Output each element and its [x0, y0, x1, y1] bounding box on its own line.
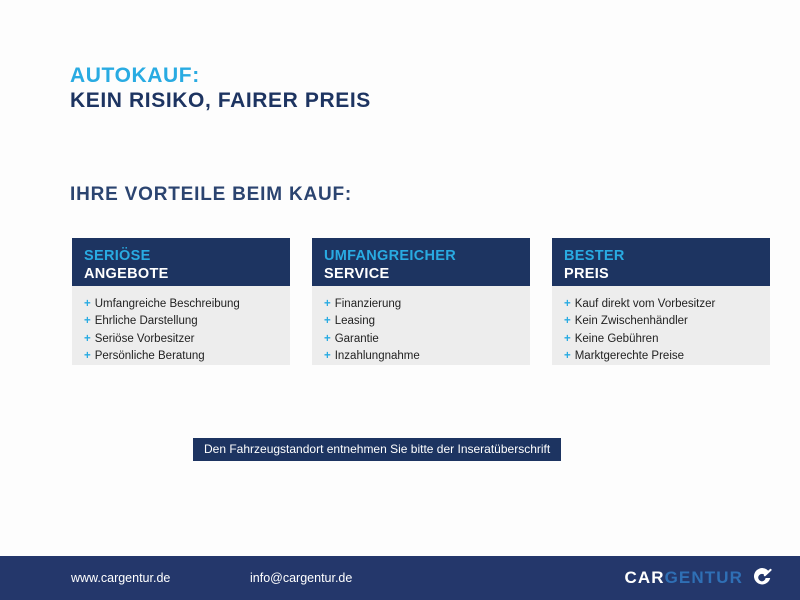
headline-line-2: KEIN RISIKO, FAIRER PREIS	[70, 89, 371, 114]
plus-icon: +	[324, 298, 331, 310]
card-header-top: BESTER	[564, 247, 758, 265]
list-item-label: Finanzierung	[335, 298, 401, 310]
list-item-label: Seriöse Vorbesitzer	[95, 333, 195, 345]
list-item-label: Keine Gebühren	[575, 333, 659, 345]
list-item-label: Ehrliche Darstellung	[95, 315, 198, 327]
plus-icon: +	[84, 350, 91, 362]
list-item: +Persönliche Beratung	[84, 348, 280, 365]
card-header-bottom: ANGEBOTE	[84, 265, 278, 283]
location-notice-banner: Den Fahrzeugstandort entnehmen Sie bitte…	[193, 438, 561, 461]
list-item: +Umfangreiche Beschreibung	[84, 296, 280, 313]
list-item: +Seriöse Vorbesitzer	[84, 331, 280, 348]
footer-website-link[interactable]: www.cargentur.de	[71, 571, 170, 585]
benefit-card-umfangreicher-service: UMFANGREICHER SERVICE +Finanzierung +Lea…	[312, 238, 530, 365]
list-item: +Garantie	[324, 331, 520, 348]
list-item-label: Umfangreiche Beschreibung	[95, 298, 240, 310]
card-header-bottom: SERVICE	[324, 265, 518, 283]
list-item: +Kein Zwischenhändler	[564, 313, 760, 330]
list-item: +Marktgerechte Preise	[564, 348, 760, 365]
plus-icon: +	[324, 350, 331, 362]
list-item-label: Leasing	[335, 315, 375, 327]
section-subtitle: IHRE VORTEILE BEIM KAUF:	[70, 184, 352, 206]
plus-icon: +	[564, 315, 571, 327]
headline-line-1: AUTOKAUF:	[70, 64, 371, 89]
list-item-label: Inzahlungnahme	[335, 350, 420, 362]
plus-icon: +	[324, 315, 331, 327]
card-header: SERIÖSE ANGEBOTE	[72, 238, 290, 286]
card-body: +Finanzierung +Leasing +Garantie +Inzahl…	[312, 286, 530, 365]
page-title: AUTOKAUF: KEIN RISIKO, FAIRER PREIS	[70, 64, 371, 114]
logo-text-car: CAR	[624, 568, 664, 588]
cargentur-c-mark-icon	[751, 567, 773, 589]
plus-icon: +	[84, 333, 91, 345]
plus-icon: +	[564, 333, 571, 345]
list-item-label: Garantie	[335, 333, 379, 345]
plus-icon: +	[564, 350, 571, 362]
plus-icon: +	[324, 333, 331, 345]
card-header-bottom: PREIS	[564, 265, 758, 283]
benefit-card-serioese-angebote: SERIÖSE ANGEBOTE +Umfangreiche Beschreib…	[72, 238, 290, 365]
list-item-label: Persönliche Beratung	[95, 350, 205, 362]
list-item: +Keine Gebühren	[564, 331, 760, 348]
card-body: +Umfangreiche Beschreibung +Ehrliche Dar…	[72, 286, 290, 365]
logo-text-gentur: GENTUR	[665, 568, 743, 588]
list-item: +Finanzierung	[324, 296, 520, 313]
plus-icon: +	[564, 298, 571, 310]
footer-bar: www.cargentur.de info@cargentur.de CARGE…	[0, 556, 800, 600]
card-header-top: SERIÖSE	[84, 247, 278, 265]
benefit-cards: SERIÖSE ANGEBOTE +Umfangreiche Beschreib…	[72, 238, 770, 365]
plus-icon: +	[84, 315, 91, 327]
list-item-label: Kein Zwischenhändler	[575, 315, 688, 327]
list-item: +Ehrliche Darstellung	[84, 313, 280, 330]
list-item: +Kauf direkt vom Vorbesitzer	[564, 296, 760, 313]
card-header: UMFANGREICHER SERVICE	[312, 238, 530, 286]
list-item-label: Marktgerechte Preise	[575, 350, 684, 362]
plus-icon: +	[84, 298, 91, 310]
card-header-top: UMFANGREICHER	[324, 247, 518, 265]
slide-canvas: AUTOKAUF: KEIN RISIKO, FAIRER PREIS IHRE…	[0, 0, 800, 600]
benefit-card-bester-preis: BESTER PREIS +Kauf direkt vom Vorbesitze…	[552, 238, 770, 365]
footer-email-link[interactable]: info@cargentur.de	[250, 571, 352, 585]
list-item: +Leasing	[324, 313, 520, 330]
card-header: BESTER PREIS	[552, 238, 770, 286]
card-body: +Kauf direkt vom Vorbesitzer +Kein Zwisc…	[552, 286, 770, 365]
list-item: +Inzahlungnahme	[324, 348, 520, 365]
cargentur-logo: CARGENTUR	[624, 567, 773, 589]
list-item-label: Kauf direkt vom Vorbesitzer	[575, 298, 716, 310]
